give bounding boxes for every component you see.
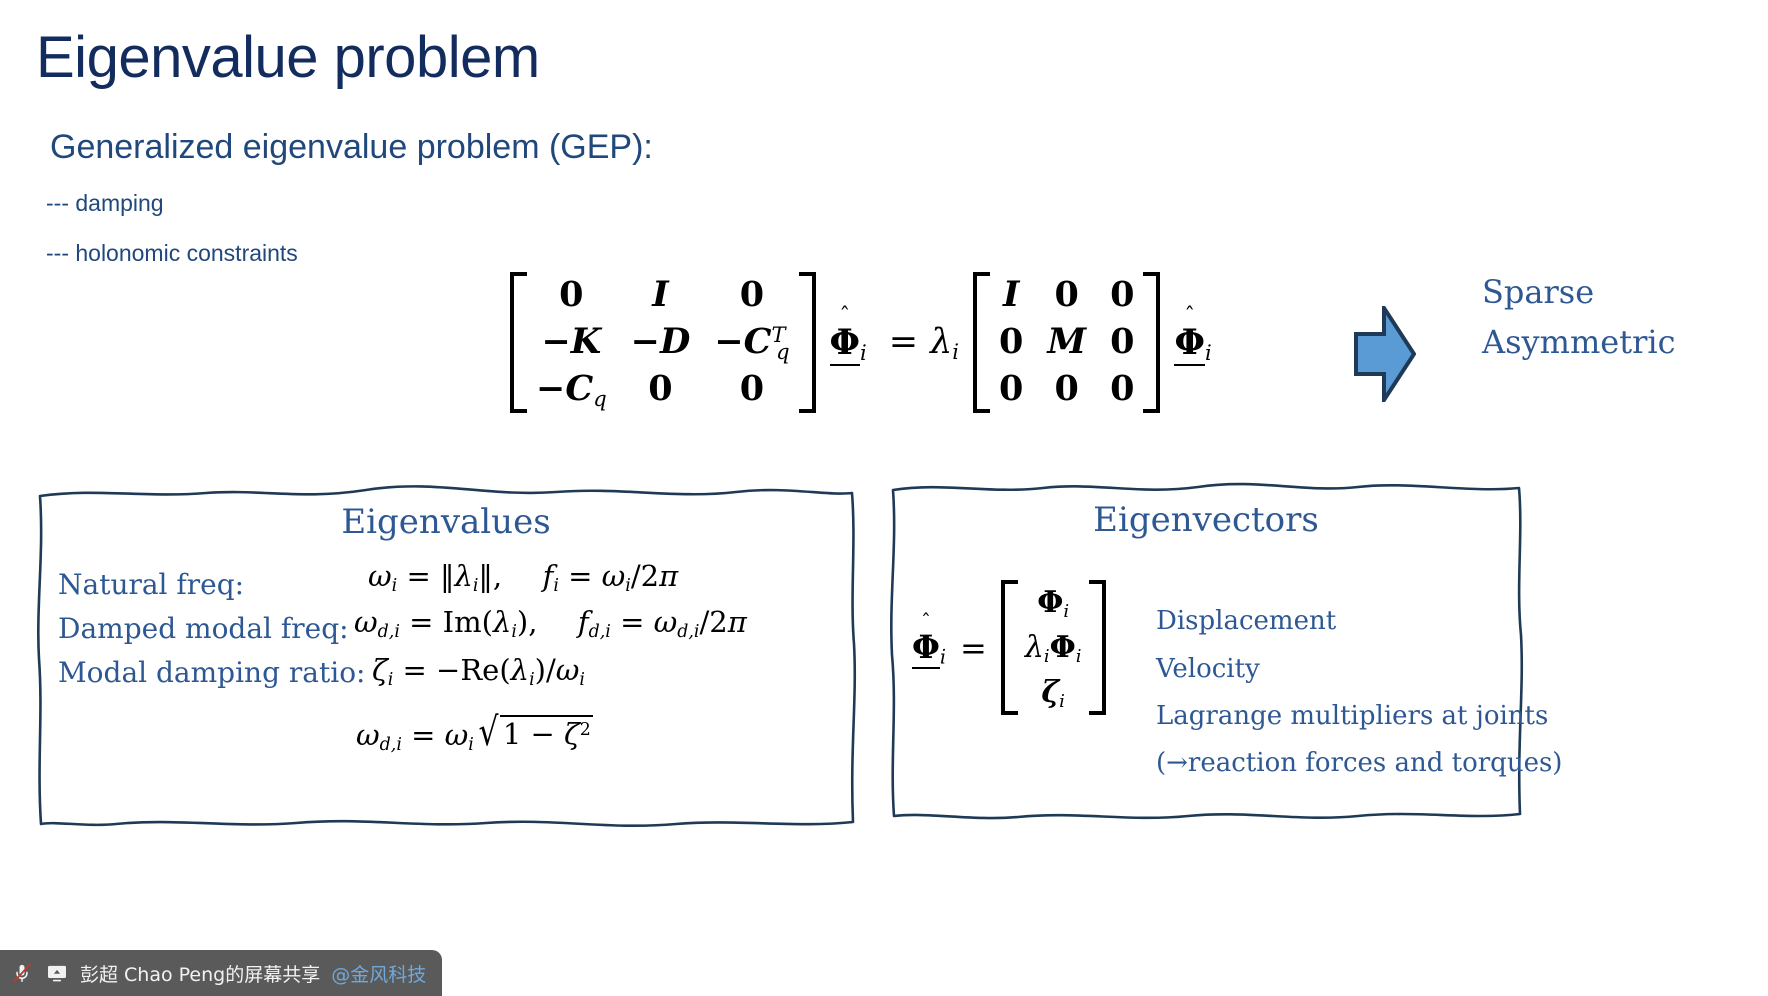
lagrange-entry: ζi xyxy=(1015,670,1092,715)
eigenvector-row: Φi xyxy=(1015,580,1092,625)
matrix-a-cell: 0 xyxy=(702,366,801,413)
eigenvector-row: λiΦi xyxy=(1015,625,1092,670)
matrix-b-cell: 0 xyxy=(987,366,1035,413)
matrix-b-cell: M xyxy=(1035,319,1098,366)
matrix-b-cell: 0 xyxy=(1098,319,1146,366)
eigenvectors-panel: Eigenvectors ˆ Φ i = Φi λiΦi xyxy=(888,480,1524,820)
asymmetric-line: Asymmetric xyxy=(1482,318,1676,368)
matrix-a: 0 I 0 −K −D −CTq −Cq 0 0 xyxy=(510,272,816,413)
matrix-b: I 0 0 0 M 0 0 0 0 xyxy=(973,272,1160,413)
eigenvector-lhs: ˆ Φ i xyxy=(912,626,946,668)
eigenvector-decomposition: ˆ Φ i = Φi λiΦi ζi xyxy=(912,580,1106,715)
eigenvalue-lambda: λi xyxy=(930,322,959,364)
damped-freq-sqrt-formula: ωd,i = ωi√1 − ζ2 xyxy=(356,710,593,755)
screen-share-bar[interactable]: 彭超 Chao Peng的屏幕共享 @金风科技 xyxy=(0,950,442,996)
damping-ratio-formula: ζi = −Re(λi)/ωi xyxy=(372,653,585,690)
matrix-a-row: −K −D −CTq xyxy=(524,319,802,366)
matrix-a-cell: I xyxy=(619,272,703,319)
note-velocity: Velocity xyxy=(1156,654,1260,684)
natural-freq-label: Natural freq: xyxy=(58,568,244,601)
note-reaction-forces: (→reaction forces and torques) xyxy=(1156,748,1562,778)
share-org-label: @金风科技 xyxy=(331,960,426,987)
matrix-b-cell: 0 xyxy=(1035,366,1098,413)
equals-sign: = xyxy=(960,629,987,667)
matrix-b-row: I 0 0 xyxy=(987,272,1146,319)
slide-canvas: Eigenvalue problem Generalized eigenvalu… xyxy=(0,0,1768,996)
sparse-asymmetric-label: Sparse Asymmetric xyxy=(1482,268,1676,367)
page-title: Eigenvalue problem xyxy=(36,28,540,89)
matrix-a-cell: −D xyxy=(619,319,703,366)
matrix-b-row: 0 M 0 xyxy=(987,319,1146,366)
note-lagrange-multipliers: Lagrange multipliers at joints xyxy=(1156,701,1548,731)
matrix-b-cell: 0 xyxy=(1035,272,1098,319)
modal-damping-ratio-label: Modal damping ratio: xyxy=(58,656,365,689)
eigenvalues-panel: Eigenvalues Natural freq: Damped modal f… xyxy=(36,484,856,828)
note-displacement: Displacement xyxy=(1156,606,1336,636)
square-root: √1 − ζ2 xyxy=(474,710,593,755)
phi-symbol: Φ xyxy=(912,628,940,669)
matrix-a-row: −Cq 0 0 xyxy=(524,366,802,413)
matrix-b-cell: 0 xyxy=(1098,366,1146,413)
hat-accent: ˆ xyxy=(1184,304,1195,329)
screen-share-icon[interactable] xyxy=(45,961,69,985)
hat-accent: ˆ xyxy=(921,610,931,633)
matrix-b-row: 0 0 0 xyxy=(987,366,1146,413)
right-arrow-icon xyxy=(1352,306,1416,402)
matrix-a-cell: 0 xyxy=(524,272,619,319)
sparse-line: Sparse xyxy=(1482,268,1676,318)
damped-modal-freq-formula: ωd,i = Im(λi), fd,i = ωd,i/2π xyxy=(354,605,747,642)
eigenvector-lhs: ˆ Φ i xyxy=(830,320,867,365)
share-user-label: 彭超 Chao Peng的屏幕共享 xyxy=(80,960,320,987)
matrix-b-cell: 0 xyxy=(987,319,1035,366)
matrix-a-cell: −Cq xyxy=(524,366,619,413)
eigenvector-rhs: ˆ Φ i xyxy=(1174,320,1211,365)
microphone-muted-icon[interactable] xyxy=(10,961,34,985)
matrix-a-cell: −CTq xyxy=(702,319,801,366)
gep-heading: Generalized eigenvalue problem (GEP): xyxy=(50,128,653,167)
matrix-b-cell: I xyxy=(987,272,1035,319)
bullet-holonomic-constraints: --- holonomic constraints xyxy=(46,240,298,267)
eigenvectors-title: Eigenvectors xyxy=(888,500,1524,540)
velocity-entry: λiΦi xyxy=(1015,625,1092,670)
matrix-a-cell: 0 xyxy=(702,272,801,319)
damped-modal-freq-label: Damped modal freq: xyxy=(58,612,349,645)
matrix-a-row: 0 I 0 xyxy=(524,272,802,319)
matrix-b-cell: 0 xyxy=(1098,272,1146,319)
equals-sign: = xyxy=(889,322,918,362)
matrix-a-cell: −K xyxy=(524,319,619,366)
hat-accent: ˆ xyxy=(839,304,850,329)
eigenvector-column-matrix: Φi λiΦi ζi xyxy=(1001,580,1106,715)
natural-freq-formula: ωi = ‖λi‖, fi = ωi/2π xyxy=(368,559,678,596)
gep-equation: 0 I 0 −K −D −CTq −Cq 0 0 ˆ Φ xyxy=(510,272,1212,413)
displacement-entry: Φi xyxy=(1015,580,1092,625)
matrix-a-cell: 0 xyxy=(619,366,703,413)
bullet-damping: --- damping xyxy=(46,190,164,217)
eigenvalues-title: Eigenvalues xyxy=(36,502,856,542)
eigenvector-row: ζi xyxy=(1015,670,1092,715)
